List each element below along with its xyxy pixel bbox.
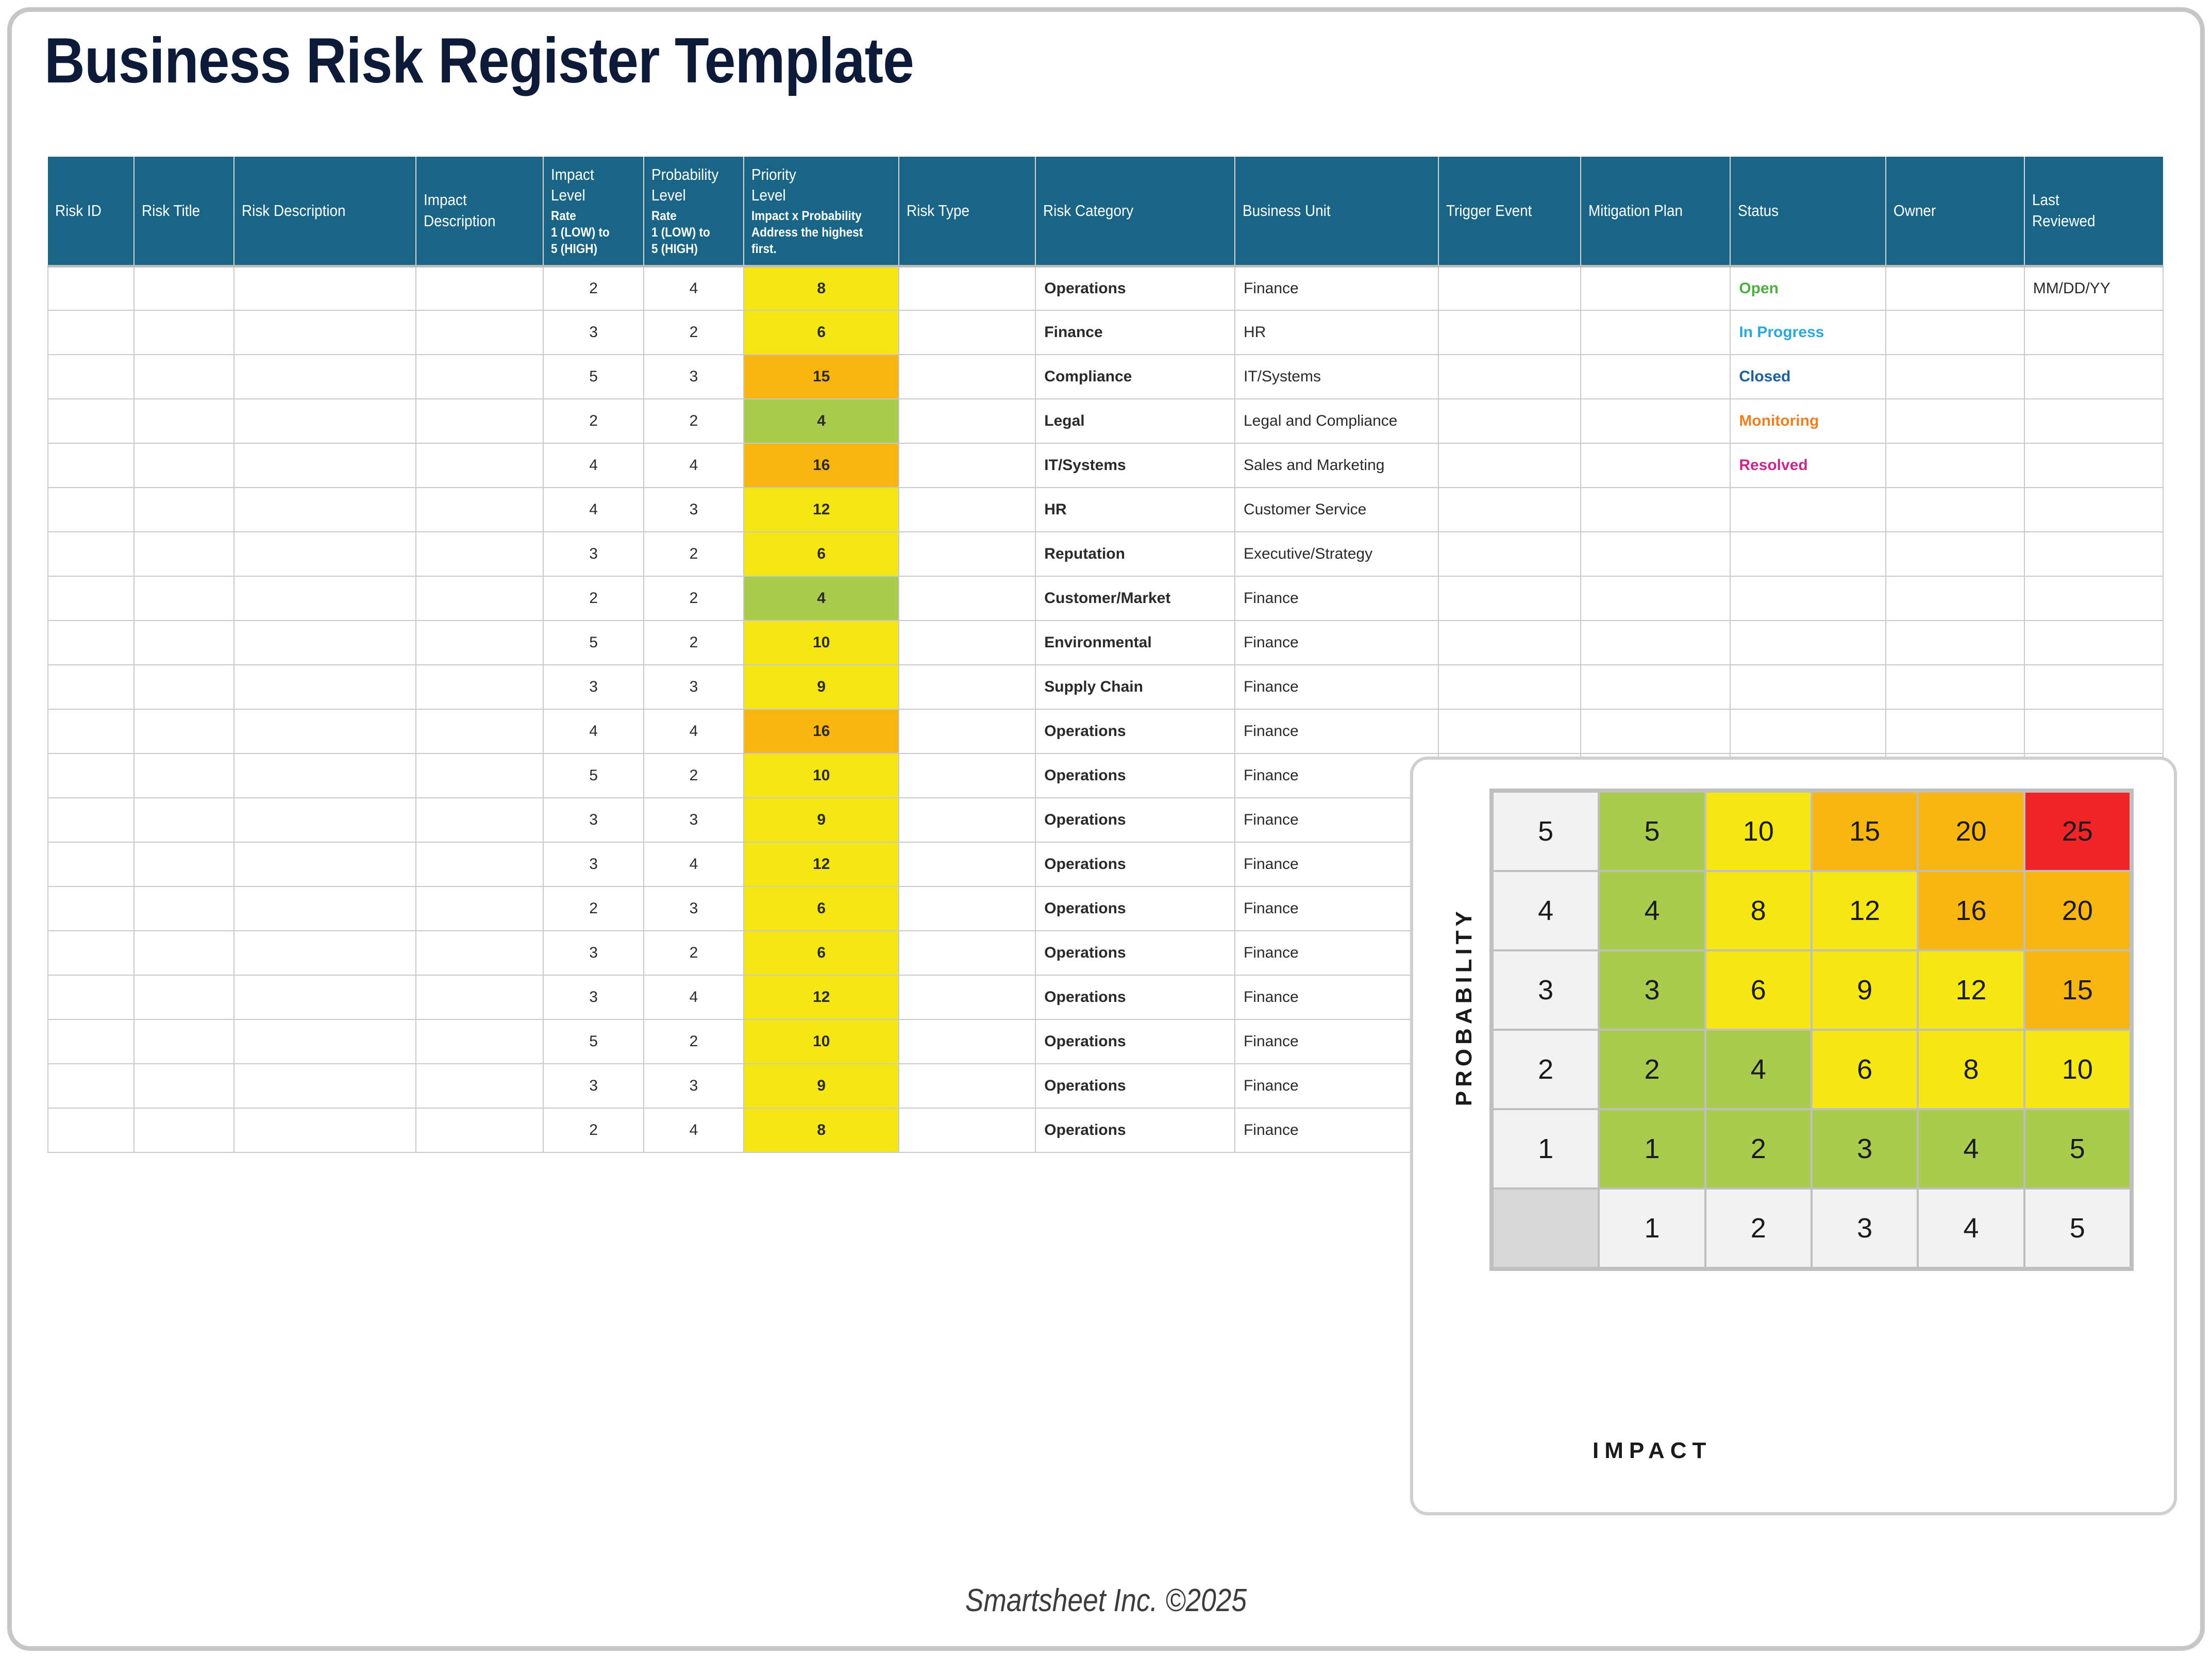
cell-risk_desc[interactable] [234, 931, 416, 975]
cell-risk_type[interactable] [899, 665, 1035, 709]
matrix-probability-tick: 5 [1494, 793, 1598, 870]
cell-risk_type[interactable] [899, 709, 1035, 753]
cell-trigger_event[interactable] [1438, 709, 1581, 753]
cell-owner[interactable] [1886, 532, 2024, 576]
cell-risk_title[interactable] [134, 709, 234, 753]
cell-risk_desc[interactable] [234, 443, 416, 488]
cell-owner[interactable] [1886, 310, 2024, 355]
cell-risk_id[interactable] [48, 886, 134, 931]
column-header-business_unit: Business Unit [1235, 157, 1438, 266]
cell-impact_desc[interactable] [416, 1064, 544, 1108]
cell-risk_type[interactable] [899, 443, 1035, 488]
cell-business_unit[interactable]: HR [1235, 310, 1438, 355]
cell-priority[interactable]: 8 [744, 266, 899, 310]
cell-last_reviewed[interactable] [2024, 709, 2163, 753]
matrix-cell: 12 [1813, 872, 1917, 949]
cell-impact_desc[interactable] [416, 709, 544, 753]
cell-risk_title[interactable] [134, 266, 234, 310]
cell-impact_desc[interactable] [416, 886, 544, 931]
cell-last_reviewed[interactable] [2024, 488, 2163, 532]
cell-risk_category[interactable]: Operations [1035, 1108, 1235, 1152]
cell-status[interactable]: In Progress [1730, 310, 1885, 355]
cell-risk_type[interactable] [899, 753, 1035, 798]
cell-impact[interactable]: 5 [543, 1019, 643, 1064]
cell-risk_desc[interactable] [234, 798, 416, 842]
cell-risk_id[interactable] [48, 1064, 134, 1108]
cell-probability[interactable]: 2 [644, 1019, 744, 1064]
cell-risk_id[interactable] [48, 532, 134, 576]
cell-risk_id[interactable] [48, 266, 134, 310]
cell-probability[interactable]: 2 [644, 310, 744, 355]
cell-risk_desc[interactable] [234, 576, 416, 621]
cell-risk_id[interactable] [48, 488, 134, 532]
cell-risk_category[interactable]: Compliance [1035, 355, 1235, 399]
cell-risk_id[interactable] [48, 399, 134, 443]
cell-probability[interactable]: 2 [644, 621, 744, 665]
column-header-sublabel: Rate1 (LOW) to5 (HIGH) [551, 208, 627, 257]
cell-impact[interactable]: 5 [543, 621, 643, 665]
cell-risk_type[interactable] [899, 576, 1035, 621]
cell-risk_category[interactable]: Operations [1035, 266, 1235, 310]
cell-risk_desc[interactable] [234, 1019, 416, 1064]
cell-risk_id[interactable] [48, 1019, 134, 1064]
footer-copyright: Smartsheet Inc. ©2025 [155, 1582, 2057, 1619]
cell-priority[interactable]: 16 [744, 443, 899, 488]
cell-status[interactable]: Monitoring [1730, 399, 1885, 443]
cell-trigger_event[interactable] [1438, 621, 1581, 665]
cell-impact_desc[interactable] [416, 665, 544, 709]
cell-risk_category[interactable]: Customer/Market [1035, 576, 1235, 621]
cell-probability[interactable]: 3 [644, 886, 744, 931]
cell-impact[interactable]: 3 [543, 975, 643, 1019]
cell-impact[interactable]: 3 [543, 310, 643, 355]
cell-risk_title[interactable] [134, 443, 234, 488]
cell-risk_title[interactable] [134, 931, 234, 975]
cell-priority[interactable]: 16 [744, 709, 899, 753]
cell-priority[interactable]: 6 [744, 310, 899, 355]
cell-status[interactable] [1730, 621, 1885, 665]
cell-impact[interactable]: 2 [543, 266, 643, 310]
cell-priority[interactable]: 9 [744, 798, 899, 842]
cell-impact[interactable]: 4 [543, 709, 643, 753]
cell-impact[interactable]: 3 [543, 532, 643, 576]
cell-mitigation[interactable] [1581, 266, 1731, 310]
cell-risk_category[interactable]: Reputation [1035, 532, 1235, 576]
table-row[interactable]: 248OperationsFinanceOpenMM/DD/YY [48, 266, 2163, 310]
cell-risk_category[interactable]: Operations [1035, 1019, 1235, 1064]
cell-risk_title[interactable] [134, 842, 234, 886]
cell-trigger_event[interactable] [1438, 310, 1581, 355]
column-header-label: ImpactDescription [424, 190, 525, 231]
cell-last_reviewed[interactable] [2024, 355, 2163, 399]
column-header-label: Mitigation Plan [1588, 200, 1709, 221]
table-row[interactable]: 5315ComplianceIT/SystemsClosed [48, 355, 2163, 399]
cell-risk_desc[interactable] [234, 753, 416, 798]
cell-impact_desc[interactable] [416, 532, 544, 576]
cell-risk_type[interactable] [899, 931, 1035, 975]
cell-last_reviewed[interactable] [2024, 443, 2163, 488]
cell-risk_id[interactable] [48, 753, 134, 798]
cell-risk_category[interactable]: HR [1035, 488, 1235, 532]
cell-impact_desc[interactable] [416, 488, 544, 532]
cell-trigger_event[interactable] [1438, 576, 1581, 621]
cell-risk_desc[interactable] [234, 975, 416, 1019]
matrix-row: 112345 [1494, 1110, 2130, 1187]
cell-priority[interactable]: 9 [744, 665, 899, 709]
cell-priority[interactable]: 6 [744, 931, 899, 975]
cell-impact[interactable]: 3 [543, 842, 643, 886]
table-row[interactable]: 326FinanceHRIn Progress [48, 310, 2163, 355]
cell-priority[interactable]: 6 [744, 532, 899, 576]
cell-risk_title[interactable] [134, 975, 234, 1019]
cell-status[interactable]: Closed [1730, 355, 1885, 399]
cell-risk_id[interactable] [48, 443, 134, 488]
cell-trigger_event[interactable] [1438, 488, 1581, 532]
cell-risk_type[interactable] [899, 1108, 1035, 1152]
cell-impact[interactable]: 3 [543, 665, 643, 709]
cell-status[interactable] [1730, 665, 1885, 709]
cell-risk_category[interactable]: Environmental [1035, 621, 1235, 665]
cell-mitigation[interactable] [1581, 665, 1731, 709]
matrix-cell: 2 [1600, 1031, 1704, 1108]
cell-risk_title[interactable] [134, 532, 234, 576]
cell-impact_desc[interactable] [416, 1108, 544, 1152]
cell-impact[interactable]: 2 [543, 576, 643, 621]
cell-risk_category[interactable]: Finance [1035, 310, 1235, 355]
matrix-cell: 5 [1600, 793, 1704, 870]
cell-risk_type[interactable] [899, 1064, 1035, 1108]
cell-last_reviewed[interactable] [2024, 310, 2163, 355]
cell-risk_type[interactable] [899, 842, 1035, 886]
cell-impact_desc[interactable] [416, 621, 544, 665]
cell-risk_category[interactable]: Operations [1035, 842, 1235, 886]
cell-risk_id[interactable] [48, 355, 134, 399]
cell-probability[interactable]: 4 [644, 842, 744, 886]
column-header-label: ProbabilityLevel [651, 164, 728, 206]
cell-business_unit[interactable]: Finance [1235, 665, 1438, 709]
cell-impact_desc[interactable] [416, 931, 544, 975]
cell-impact_desc[interactable] [416, 1019, 544, 1064]
cell-last_reviewed[interactable] [2024, 399, 2163, 443]
cell-probability[interactable]: 4 [644, 975, 744, 1019]
matrix-cell: 16 [1919, 872, 2023, 949]
risk-matrix-grid: 5510152025448121620336912152246810112345… [1489, 789, 2134, 1271]
table-row[interactable]: 224LegalLegal and ComplianceMonitoring [48, 399, 2163, 443]
cell-priority[interactable]: 12 [744, 975, 899, 1019]
cell-probability[interactable]: 4 [644, 709, 744, 753]
cell-risk_id[interactable] [48, 842, 134, 886]
cell-risk_title[interactable] [134, 621, 234, 665]
cell-business_unit[interactable]: Finance [1235, 753, 1438, 798]
cell-risk_type[interactable] [899, 310, 1035, 355]
cell-risk_type[interactable] [899, 886, 1035, 931]
cell-risk_category[interactable]: IT/Systems [1035, 443, 1235, 488]
cell-priority[interactable]: 15 [744, 355, 899, 399]
cell-risk_category[interactable]: Operations [1035, 931, 1235, 975]
cell-risk_id[interactable] [48, 931, 134, 975]
matrix-impact-tick: 1 [1600, 1190, 1704, 1267]
cell-status[interactable]: Open [1730, 266, 1885, 310]
cell-last_reviewed[interactable] [2024, 532, 2163, 576]
cell-business_unit[interactable]: Finance [1235, 842, 1438, 886]
cell-business_unit[interactable]: Finance [1235, 1108, 1438, 1152]
cell-probability[interactable]: 2 [644, 931, 744, 975]
cell-impact_desc[interactable] [416, 753, 544, 798]
cell-owner[interactable] [1886, 399, 2024, 443]
matrix-axis-row: 12345 [1494, 1190, 2130, 1267]
cell-business_unit[interactable]: Finance [1235, 975, 1438, 1019]
cell-priority[interactable]: 6 [744, 886, 899, 931]
cell-priority[interactable]: 8 [744, 1108, 899, 1152]
matrix-row: 448121620 [1494, 872, 2130, 949]
cell-trigger_event[interactable] [1438, 665, 1581, 709]
cell-risk_type[interactable] [899, 355, 1035, 399]
cell-mitigation[interactable] [1581, 488, 1731, 532]
cell-status[interactable] [1730, 488, 1885, 532]
cell-owner[interactable] [1886, 488, 2024, 532]
cell-last_reviewed[interactable] [2024, 621, 2163, 665]
cell-trigger_event[interactable] [1438, 443, 1581, 488]
cell-risk_desc[interactable] [234, 1064, 416, 1108]
cell-owner[interactable] [1886, 665, 2024, 709]
cell-risk_title[interactable] [134, 665, 234, 709]
cell-priority[interactable]: 12 [744, 488, 899, 532]
cell-priority[interactable]: 4 [744, 399, 899, 443]
cell-risk_desc[interactable] [234, 709, 416, 753]
cell-business_unit[interactable]: IT/Systems [1235, 355, 1438, 399]
cell-risk_category[interactable]: Legal [1035, 399, 1235, 443]
cell-business_unit[interactable]: Finance [1235, 266, 1438, 310]
cell-probability[interactable]: 4 [644, 443, 744, 488]
cell-impact_desc[interactable] [416, 798, 544, 842]
cell-risk_title[interactable] [134, 753, 234, 798]
cell-last_reviewed[interactable] [2024, 576, 2163, 621]
cell-impact[interactable]: 2 [543, 886, 643, 931]
cell-impact_desc[interactable] [416, 266, 544, 310]
column-header-status: Status [1730, 157, 1885, 266]
cell-risk_id[interactable] [48, 709, 134, 753]
cell-risk_category[interactable]: Operations [1035, 709, 1235, 753]
cell-owner[interactable] [1886, 443, 2024, 488]
cell-impact_desc[interactable] [416, 842, 544, 886]
cell-priority[interactable]: 9 [744, 1064, 899, 1108]
cell-impact_desc[interactable] [416, 310, 544, 355]
cell-risk_id[interactable] [48, 621, 134, 665]
cell-business_unit[interactable]: Finance [1235, 1064, 1438, 1108]
cell-risk_id[interactable] [48, 665, 134, 709]
cell-probability[interactable]: 4 [644, 1108, 744, 1152]
table-row[interactable]: 5210EnvironmentalFinance [48, 621, 2163, 665]
cell-impact[interactable]: 2 [543, 399, 643, 443]
cell-mitigation[interactable] [1581, 621, 1731, 665]
cell-trigger_event[interactable] [1438, 355, 1581, 399]
cell-risk_id[interactable] [48, 1108, 134, 1152]
cell-business_unit[interactable]: Finance [1235, 931, 1438, 975]
cell-probability[interactable]: 3 [644, 355, 744, 399]
cell-risk_desc[interactable] [234, 488, 416, 532]
cell-impact_desc[interactable] [416, 399, 544, 443]
cell-risk_title[interactable] [134, 1019, 234, 1064]
table-row[interactable]: 339Supply ChainFinance [48, 665, 2163, 709]
cell-probability[interactable]: 3 [644, 665, 744, 709]
cell-business_unit[interactable]: Finance [1235, 576, 1438, 621]
column-header-probability: ProbabilityLevelRate1 (LOW) to5 (HIGH) [644, 157, 744, 266]
cell-owner[interactable] [1886, 621, 2024, 665]
cell-risk_type[interactable] [899, 621, 1035, 665]
table-row[interactable]: 326ReputationExecutive/Strategy [48, 532, 2163, 576]
cell-risk_title[interactable] [134, 399, 234, 443]
cell-business_unit[interactable]: Customer Service [1235, 488, 1438, 532]
cell-last_reviewed[interactable] [2024, 665, 2163, 709]
column-header-priority: PriorityLevelImpact x ProbabilityAddress… [744, 157, 899, 266]
cell-risk_title[interactable] [134, 886, 234, 931]
cell-risk_desc[interactable] [234, 355, 416, 399]
cell-risk_title[interactable] [134, 355, 234, 399]
cell-risk_type[interactable] [899, 266, 1035, 310]
cell-impact[interactable]: 2 [543, 1108, 643, 1152]
cell-probability[interactable]: 3 [644, 488, 744, 532]
cell-business_unit[interactable]: Finance [1235, 1019, 1438, 1064]
cell-impact_desc[interactable] [416, 443, 544, 488]
cell-risk_title[interactable] [134, 798, 234, 842]
table-header-row: Risk IDRisk TitleRisk DescriptionImpactD… [48, 157, 2163, 266]
cell-priority[interactable]: 10 [744, 753, 899, 798]
cell-risk_id[interactable] [48, 310, 134, 355]
cell-risk_type[interactable] [899, 975, 1035, 1019]
cell-risk_id[interactable] [48, 576, 134, 621]
cell-risk_desc[interactable] [234, 532, 416, 576]
cell-mitigation[interactable] [1581, 355, 1731, 399]
cell-risk_title[interactable] [134, 1064, 234, 1108]
cell-mitigation[interactable] [1581, 532, 1731, 576]
cell-risk_desc[interactable] [234, 310, 416, 355]
cell-risk_type[interactable] [899, 488, 1035, 532]
cell-priority[interactable]: 4 [744, 576, 899, 621]
column-header-label: Risk Title [142, 200, 218, 221]
cell-business_unit[interactable]: Executive/Strategy [1235, 532, 1438, 576]
cell-owner[interactable] [1886, 709, 2024, 753]
cell-trigger_event[interactable] [1438, 266, 1581, 310]
cell-probability[interactable]: 2 [644, 532, 744, 576]
column-header-risk_id: Risk ID [48, 157, 134, 266]
cell-risk_type[interactable] [899, 532, 1035, 576]
matrix-cell: 15 [1813, 793, 1917, 870]
cell-status[interactable] [1730, 709, 1885, 753]
cell-mitigation[interactable] [1581, 399, 1731, 443]
column-header-mitigation: Mitigation Plan [1581, 157, 1731, 266]
cell-risk_desc[interactable] [234, 886, 416, 931]
cell-impact[interactable]: 4 [543, 443, 643, 488]
cell-priority[interactable]: 10 [744, 621, 899, 665]
cell-owner[interactable] [1886, 576, 2024, 621]
cell-status[interactable]: Resolved [1730, 443, 1885, 488]
cell-risk_title[interactable] [134, 310, 234, 355]
cell-business_unit[interactable]: Finance [1235, 886, 1438, 931]
cell-risk_type[interactable] [899, 1019, 1035, 1064]
cell-mitigation[interactable] [1581, 576, 1731, 621]
cell-risk_id[interactable] [48, 798, 134, 842]
cell-risk_title[interactable] [134, 576, 234, 621]
column-header-risk_category: Risk Category [1035, 157, 1235, 266]
cell-risk_category[interactable]: Operations [1035, 1064, 1235, 1108]
cell-risk_desc[interactable] [234, 399, 416, 443]
cell-mitigation[interactable] [1581, 310, 1731, 355]
cell-probability[interactable]: 3 [644, 1064, 744, 1108]
column-header-label: PriorityLevel [751, 164, 877, 206]
column-header-label: Risk Description [242, 200, 391, 221]
matrix-cell: 20 [2025, 872, 2130, 949]
cell-priority[interactable]: 10 [744, 1019, 899, 1064]
cell-mitigation[interactable] [1581, 709, 1731, 753]
cell-risk_title[interactable] [134, 1108, 234, 1152]
cell-impact_desc[interactable] [416, 576, 544, 621]
cell-risk_desc[interactable] [234, 665, 416, 709]
cell-impact_desc[interactable] [416, 975, 544, 1019]
cell-priority[interactable]: 12 [744, 842, 899, 886]
matrix-cell: 5 [2025, 1110, 2130, 1187]
cell-risk_category[interactable]: Operations [1035, 798, 1235, 842]
cell-impact[interactable]: 4 [543, 488, 643, 532]
cell-impact[interactable]: 5 [543, 753, 643, 798]
cell-risk_category[interactable]: Operations [1035, 975, 1235, 1019]
cell-probability[interactable]: 3 [644, 798, 744, 842]
cell-probability[interactable]: 2 [644, 753, 744, 798]
cell-risk_title[interactable] [134, 488, 234, 532]
cell-impact[interactable]: 5 [543, 355, 643, 399]
table-row[interactable]: 224Customer/MarketFinance [48, 576, 2163, 621]
column-header-last_reviewed: LastReviewed [2024, 157, 2163, 266]
cell-business_unit[interactable]: Finance [1235, 798, 1438, 842]
cell-business_unit[interactable]: Sales and Marketing [1235, 443, 1438, 488]
risk-matrix-body: 5510152025448121620336912152246810112345… [1494, 793, 2130, 1267]
cell-probability[interactable]: 2 [644, 399, 744, 443]
cell-risk_desc[interactable] [234, 1108, 416, 1152]
cell-probability[interactable]: 4 [644, 266, 744, 310]
cell-status[interactable] [1730, 576, 1885, 621]
column-header-trigger_event: Trigger Event [1438, 157, 1581, 266]
cell-risk_category[interactable]: Operations [1035, 886, 1235, 931]
cell-impact_desc[interactable] [416, 355, 544, 399]
cell-risk_type[interactable] [899, 399, 1035, 443]
cell-business_unit[interactable]: Legal and Compliance [1235, 399, 1438, 443]
cell-risk_category[interactable]: Operations [1035, 753, 1235, 798]
cell-risk_type[interactable] [899, 798, 1035, 842]
table-row[interactable]: 4416OperationsFinance [48, 709, 2163, 753]
cell-status[interactable] [1730, 532, 1885, 576]
cell-owner[interactable] [1886, 266, 2024, 310]
cell-business_unit[interactable]: Finance [1235, 709, 1438, 753]
cell-risk_desc[interactable] [234, 266, 416, 310]
cell-risk_id[interactable] [48, 975, 134, 1019]
cell-trigger_event[interactable] [1438, 399, 1581, 443]
cell-mitigation[interactable] [1581, 443, 1731, 488]
cell-impact[interactable]: 3 [543, 1064, 643, 1108]
cell-impact[interactable]: 3 [543, 931, 643, 975]
cell-risk_category[interactable]: Supply Chain [1035, 665, 1235, 709]
cell-trigger_event[interactable] [1438, 532, 1581, 576]
cell-probability[interactable]: 2 [644, 576, 744, 621]
cell-business_unit[interactable]: Finance [1235, 621, 1438, 665]
table-row[interactable]: 4312HRCustomer Service [48, 488, 2163, 532]
matrix-cell: 8 [1919, 1031, 2023, 1108]
cell-owner[interactable] [1886, 355, 2024, 399]
table-row[interactable]: 4416IT/SystemsSales and MarketingResolve… [48, 443, 2163, 488]
cell-impact[interactable]: 3 [543, 798, 643, 842]
column-header-label: LastReviewed [2032, 190, 2143, 231]
cell-risk_desc[interactable] [234, 621, 416, 665]
cell-last_reviewed[interactable]: MM/DD/YY [2024, 266, 2163, 310]
cell-risk_desc[interactable] [234, 842, 416, 886]
